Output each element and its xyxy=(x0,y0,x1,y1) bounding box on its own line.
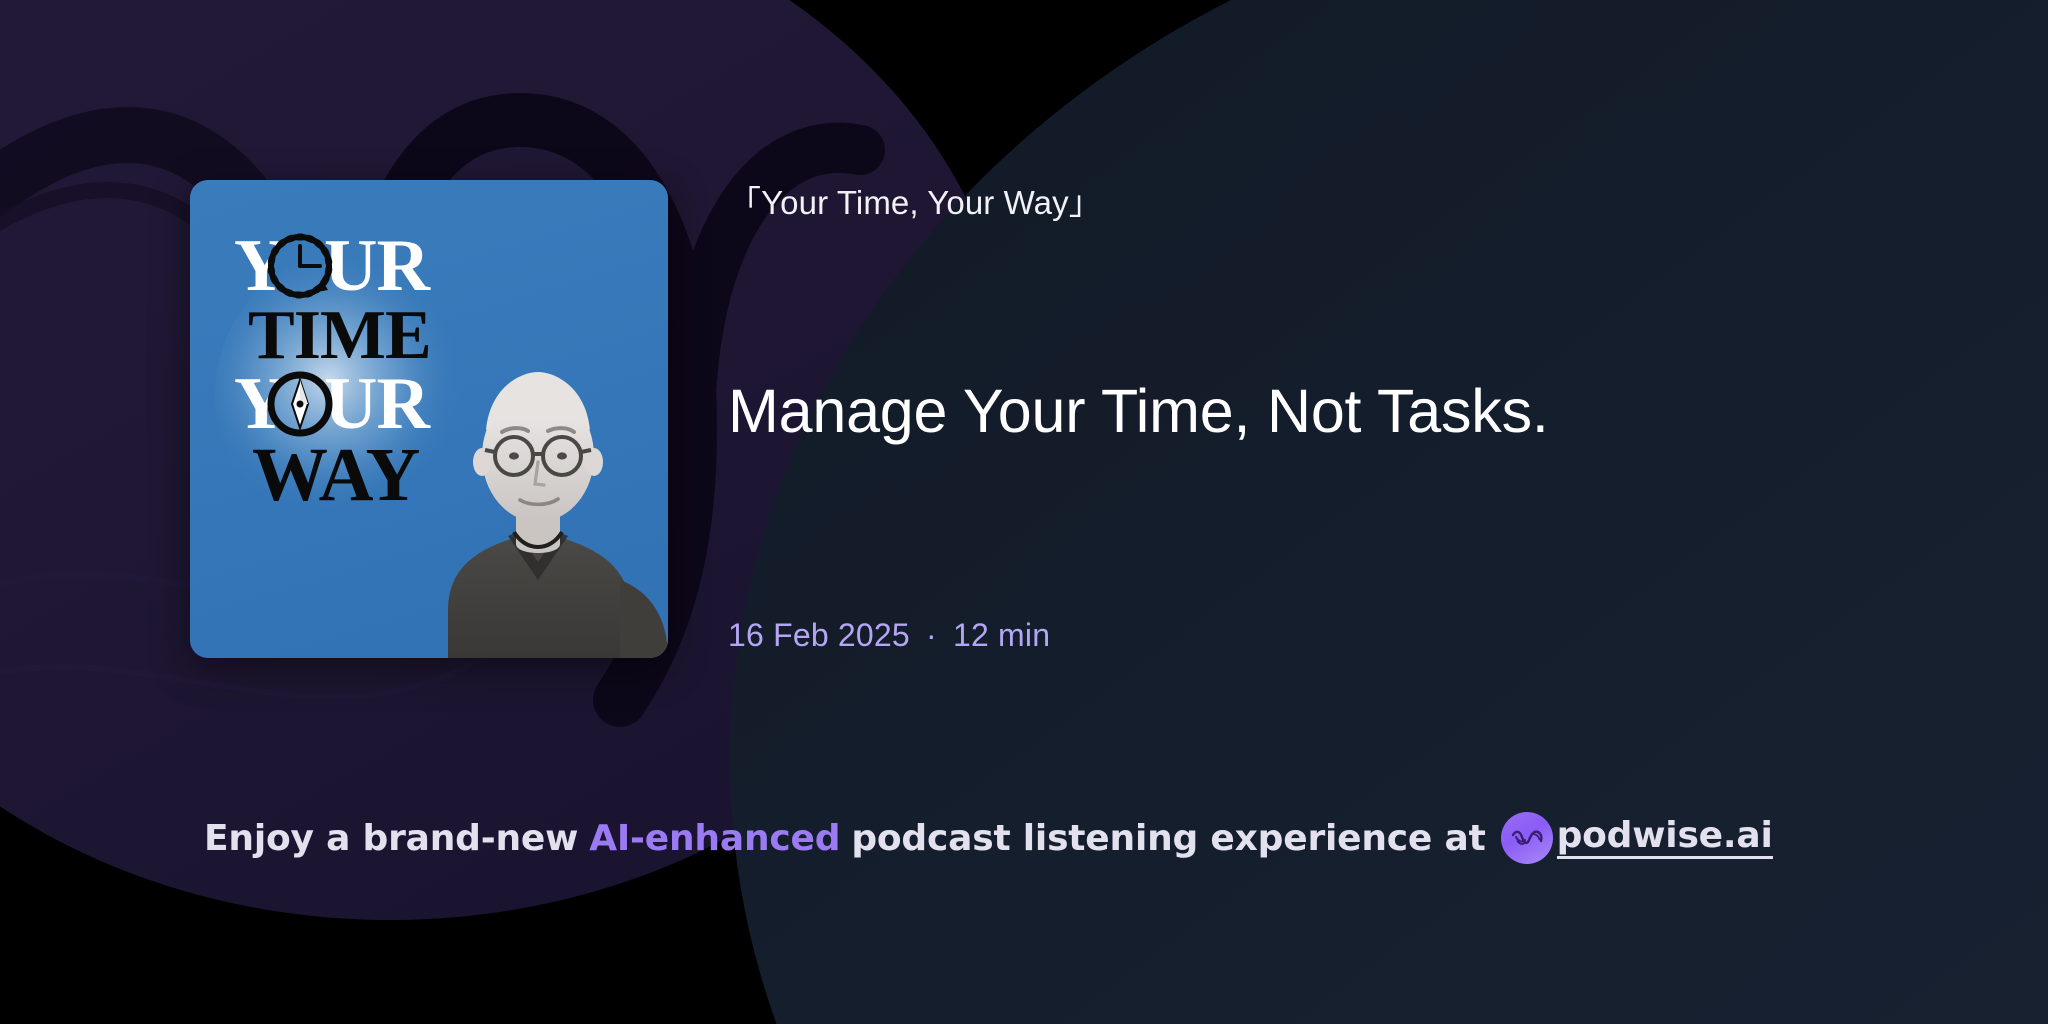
podcast-cover-art[interactable]: Y UR TIME Y UR WAY xyxy=(190,180,668,658)
svg-text:Y: Y xyxy=(234,225,287,307)
episode-title: Manage Your Time, Not Tasks. xyxy=(728,375,1549,448)
meta-separator: · xyxy=(919,617,944,653)
promo-text-part2: podcast listening experience at xyxy=(851,818,1485,859)
podwise-wave-logo-icon xyxy=(1501,812,1553,864)
promo-highlight: AI-enhanced xyxy=(589,818,840,859)
episode-meta: 「Your Time, Your Way」 Manage Your Time, … xyxy=(728,0,1968,1024)
promo-text-part1: Enjoy a brand-new xyxy=(204,818,578,859)
podcast-name[interactable]: 「Your Time, Your Way」 xyxy=(728,182,1102,223)
svg-text:WAY: WAY xyxy=(252,433,419,517)
podwise-brand-link[interactable]: podwise.ai xyxy=(1501,812,1773,864)
episode-date: 16 Feb 2025 xyxy=(728,617,910,653)
episode-date-duration: 16 Feb 2025 · 12 min xyxy=(728,615,1050,655)
promo-banner: Enjoy a brand-new AI-enhanced podcast li… xyxy=(204,812,1773,864)
svg-text:UR: UR xyxy=(324,225,431,307)
podwise-brand-name[interactable]: podwise.ai xyxy=(1557,817,1773,859)
episode-duration: 12 min xyxy=(953,617,1050,653)
episode-share-card: Y UR TIME Y UR WAY xyxy=(0,0,2048,1024)
